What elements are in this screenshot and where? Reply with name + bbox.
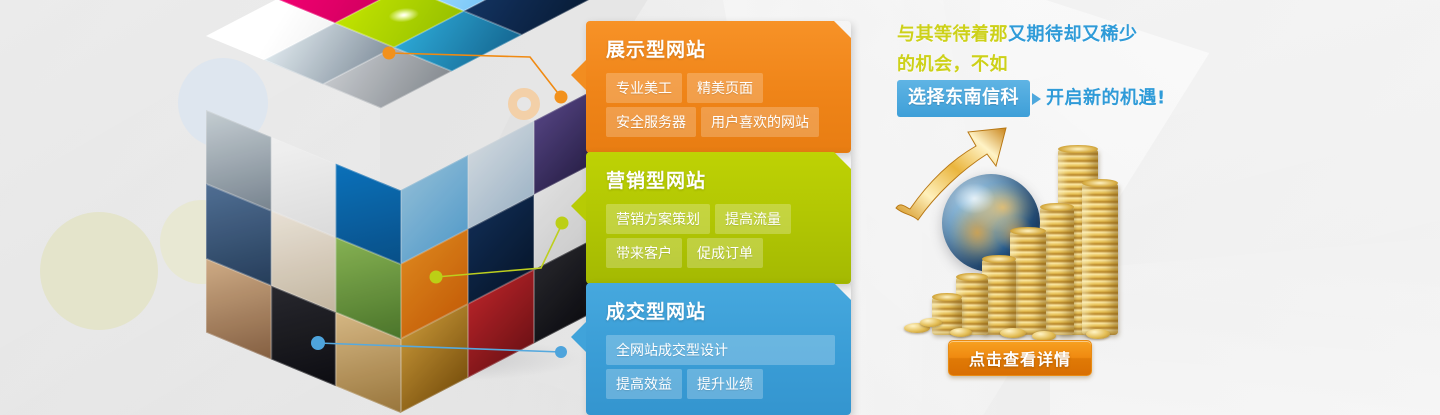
panel-chip[interactable]: 用户喜欢的网站 — [701, 107, 819, 137]
panel-chip-list: 专业美工 精美页面 安全服务器 用户喜欢的网站 — [606, 73, 835, 137]
panel-chip[interactable]: 精美页面 — [687, 73, 763, 103]
headline: 与其等待着那又期待却又稀少 的机会，不如 选择东南信科开启新的机遇! — [897, 20, 1187, 117]
panel-chip[interactable]: 营销方案策划 — [606, 204, 710, 234]
cta-button-label: 点击查看详情 — [969, 346, 1071, 370]
panel-title: 营销型网站 — [606, 166, 835, 193]
coin — [1086, 329, 1110, 339]
coin — [1000, 328, 1026, 338]
coin-stack — [1082, 183, 1118, 335]
panel-chip[interactable]: 全网站成交型设计 — [606, 335, 835, 365]
panel-chip[interactable]: 带来客户 — [606, 238, 682, 268]
banner-stage: 展示型网站 专业美工 精美页面 安全服务器 用户喜欢的网站 营销型网站 营销方案… — [0, 0, 1440, 415]
headline-line-1: 与其等待着那又期待却又稀少 — [897, 20, 1187, 50]
panel-notch-icon — [571, 190, 587, 222]
panel-chip[interactable]: 提升业绩 — [687, 369, 763, 399]
panel-chip[interactable]: 促成订单 — [687, 238, 763, 268]
panel-conversion[interactable]: 成交型网站 全网站成交型设计 提高效益 提升业绩 — [586, 283, 851, 415]
panel-title: 成交型网站 — [606, 297, 835, 324]
panel-notch-icon — [571, 321, 587, 353]
panel-notch-icon — [571, 59, 587, 91]
coin — [950, 328, 972, 337]
panel-chip[interactable]: 提高效益 — [606, 369, 682, 399]
panel-marketing[interactable]: 营销型网站 营销方案策划 提高流量 带来客户 促成订单 — [586, 152, 851, 284]
panel-showcase[interactable]: 展示型网站 专业美工 精美页面 安全服务器 用户喜欢的网站 — [586, 21, 851, 153]
globe-highlight — [954, 183, 995, 214]
cta-button[interactable]: 点击查看详情 — [948, 340, 1092, 376]
panel-chip[interactable]: 专业美工 — [606, 73, 682, 103]
panel-chip[interactable]: 安全服务器 — [606, 107, 696, 137]
headline-line-2: 的机会，不如 — [897, 50, 1187, 80]
panel-chip-list: 全网站成交型设计 提高效益 提升业绩 — [606, 335, 835, 399]
arrow-right-icon — [1032, 93, 1041, 105]
panel-chip[interactable]: 提高流量 — [715, 204, 791, 234]
headline-line1-olive: 与其等待着那 — [897, 24, 1008, 45]
headline-line1-blue: 又期待却又稀少 — [1008, 24, 1138, 45]
coin — [920, 318, 942, 327]
globe-coins-illustration — [890, 110, 1125, 335]
panel-chip-list: 营销方案策划 提高流量 带来客户 促成订单 — [606, 204, 835, 268]
tagline-end: 开启新的机遇! — [1046, 88, 1166, 109]
panel-title: 展示型网站 — [606, 35, 835, 62]
